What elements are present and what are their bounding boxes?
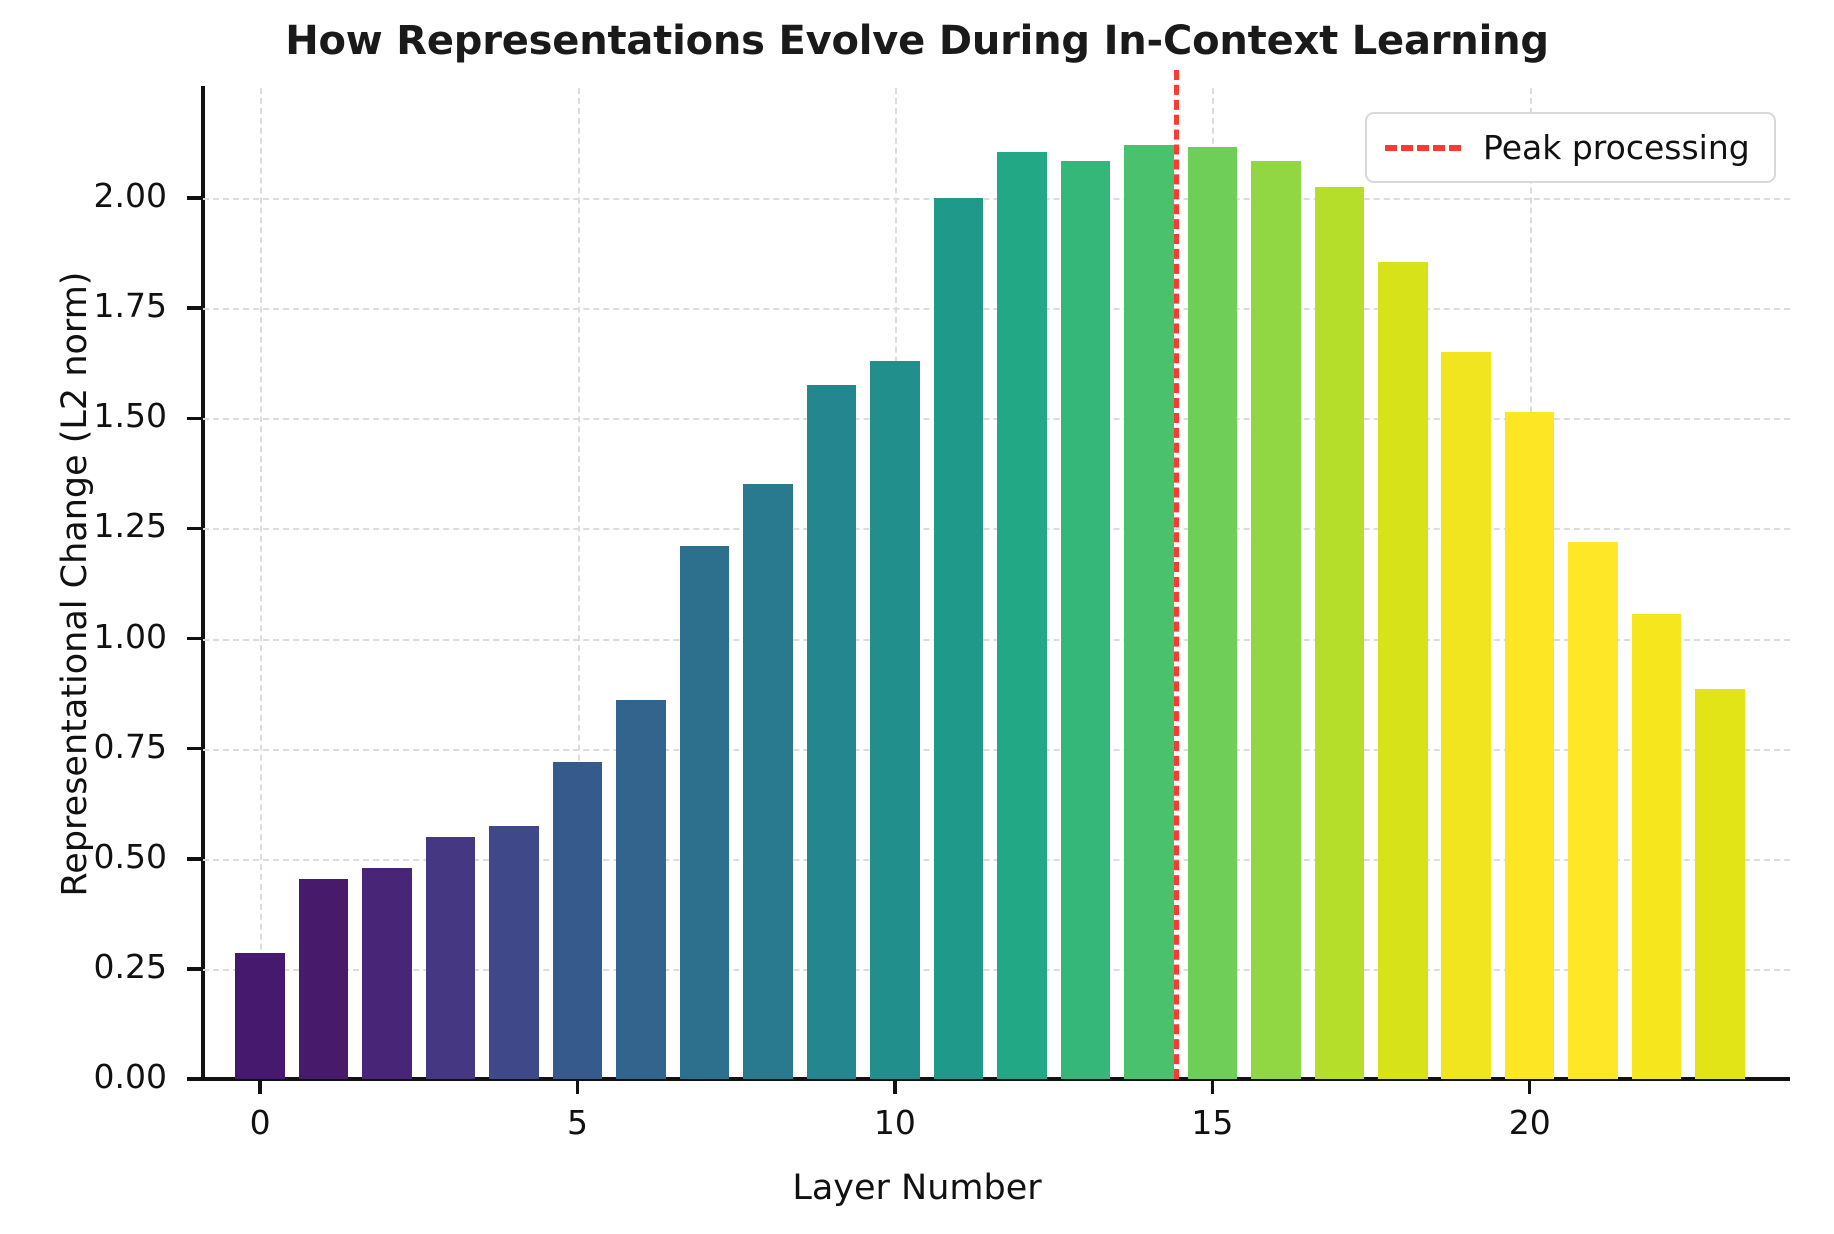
x-tick-label: 20 [1470, 1103, 1590, 1142]
bar [1251, 161, 1301, 1079]
bar [1695, 689, 1745, 1079]
x-tick-mark [1211, 1079, 1215, 1094]
chart-legend: Peak processing [1365, 112, 1776, 183]
bar [1505, 412, 1555, 1079]
y-tick-mark [187, 747, 202, 751]
y-tick-mark [187, 1077, 202, 1081]
chart-title: How Representations Evolve During In-Con… [0, 18, 1834, 64]
x-tick-mark [258, 1079, 262, 1094]
bar [616, 700, 666, 1079]
bar [553, 762, 603, 1079]
bar [934, 198, 984, 1079]
gridline-vertical [260, 88, 262, 1079]
y-tick-mark [187, 306, 202, 310]
bar [1378, 262, 1428, 1079]
bar [1124, 145, 1174, 1079]
legend-item-label: Peak processing [1483, 128, 1750, 167]
x-tick-label: 15 [1152, 1103, 1272, 1142]
bar [680, 546, 730, 1079]
bar [426, 837, 476, 1079]
y-tick-label: 0.25 [37, 947, 167, 986]
x-tick-mark [893, 1079, 897, 1094]
chart-figure: How Representations Evolve During In-Con… [0, 0, 1834, 1234]
x-tick-label: 10 [835, 1103, 955, 1142]
y-tick-mark [187, 967, 202, 971]
bar [870, 361, 920, 1079]
bar [1632, 614, 1682, 1079]
bar [1188, 147, 1238, 1079]
bar [1315, 187, 1365, 1079]
y-tick-label: 0.00 [37, 1057, 167, 1096]
plot-area [203, 88, 1790, 1079]
x-tick-label: 0 [200, 1103, 320, 1142]
bar [1568, 542, 1618, 1079]
y-tick-mark [187, 857, 202, 861]
x-axis-title: Layer Number [0, 1168, 1834, 1208]
y-tick-mark [187, 417, 202, 421]
y-tick-mark [187, 637, 202, 641]
y-tick-mark [187, 196, 202, 200]
bar [807, 385, 857, 1079]
bar [235, 953, 285, 1079]
bar [1441, 352, 1491, 1079]
y-tick-label: 2.00 [37, 176, 167, 215]
x-tick-label: 5 [518, 1103, 638, 1142]
y-axis-title: Representational Change (L2 norm) [55, 271, 95, 896]
x-tick-mark [1528, 1079, 1532, 1094]
bar [489, 826, 539, 1079]
peak-processing-line [1174, 70, 1179, 1079]
peak-processing-legend-swatch [1385, 145, 1461, 151]
x-tick-mark [576, 1079, 580, 1094]
bar [997, 152, 1047, 1079]
bar [299, 879, 349, 1079]
bar [1061, 161, 1111, 1079]
y-tick-mark [187, 527, 202, 531]
bar [362, 868, 412, 1079]
bar [743, 484, 793, 1079]
